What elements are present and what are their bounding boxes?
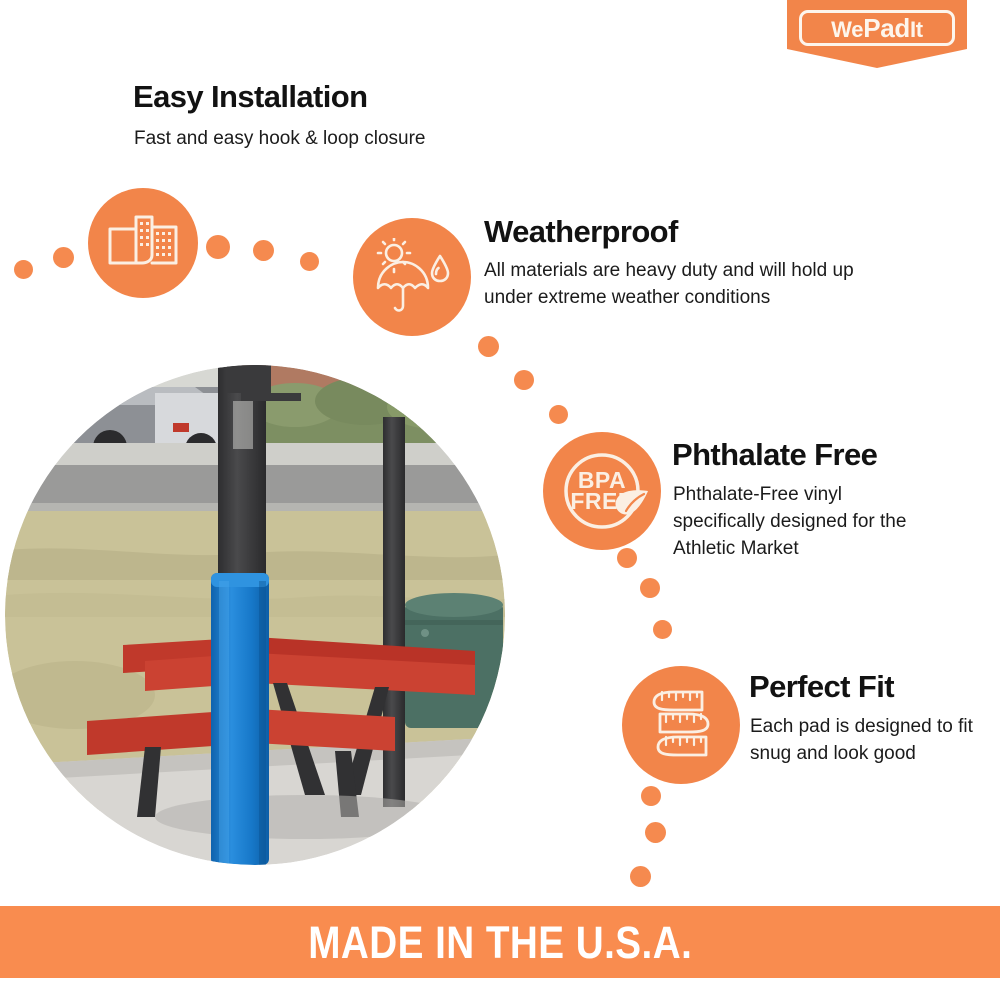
product-photo (5, 365, 505, 865)
bpa-free-leaf-icon: BPA FREE (552, 441, 652, 541)
path-dot (630, 866, 651, 887)
infographic-page: WePadIt Easy Installation Fast and easy … (0, 0, 1000, 987)
building-window (140, 222, 149, 246)
feature-title-weatherproof: Weatherproof (484, 215, 678, 249)
path-dot (549, 405, 568, 424)
feature-description-phthalate-free: Phthalate-Free vinyl specifically design… (673, 482, 935, 563)
path-dot (653, 620, 672, 639)
sun-umbrella-raindrop-icon (370, 238, 454, 316)
brand-logo-pad: Pad (863, 13, 910, 43)
path-dot (617, 548, 637, 568)
feature-description-easy-installation: Fast and easy hook & loop closure (134, 126, 554, 153)
blue-pole-pad-photo (5, 365, 505, 865)
brand-logo-it: It (910, 17, 923, 42)
path-dot (53, 247, 74, 268)
path-dot (514, 370, 534, 390)
path-dot (640, 578, 660, 598)
brand-logo-frame: WePadIt (799, 10, 955, 46)
measuring-tape-icon (638, 682, 724, 768)
feature-icon-weatherproof (353, 218, 471, 336)
path-dot (300, 252, 319, 271)
made-in-usa-banner: MADE IN THE U.S.A. (0, 906, 1000, 978)
path-dot (641, 786, 661, 806)
feature-icon-phthalate-free: BPA FREE (543, 432, 661, 550)
feature-title-easy-installation: Easy Installation (133, 80, 367, 114)
feature-description-weatherproof: All materials are heavy duty and will ho… (484, 258, 904, 312)
path-dot (206, 235, 230, 259)
brand-logo-text: WePadIt (831, 15, 923, 41)
path-dot (253, 240, 274, 261)
path-dot (645, 822, 666, 843)
feature-icon-easy-installation (88, 188, 198, 298)
building-window (156, 232, 171, 256)
made-in-usa-text: MADE IN THE U.S.A. (308, 920, 692, 965)
path-dot (14, 260, 33, 279)
feature-title-perfect-fit: Perfect Fit (749, 670, 894, 704)
feature-icon-perfect-fit (622, 666, 740, 784)
building-peel-icon (106, 211, 180, 275)
brand-logo-we: We (831, 17, 863, 42)
feature-description-perfect-fit: Each pad is designed to fit snug and loo… (750, 714, 975, 768)
feature-title-phthalate-free: Phthalate Free (672, 438, 877, 472)
path-dot (478, 336, 499, 357)
brand-logo-badge: WePadIt (787, 0, 967, 68)
